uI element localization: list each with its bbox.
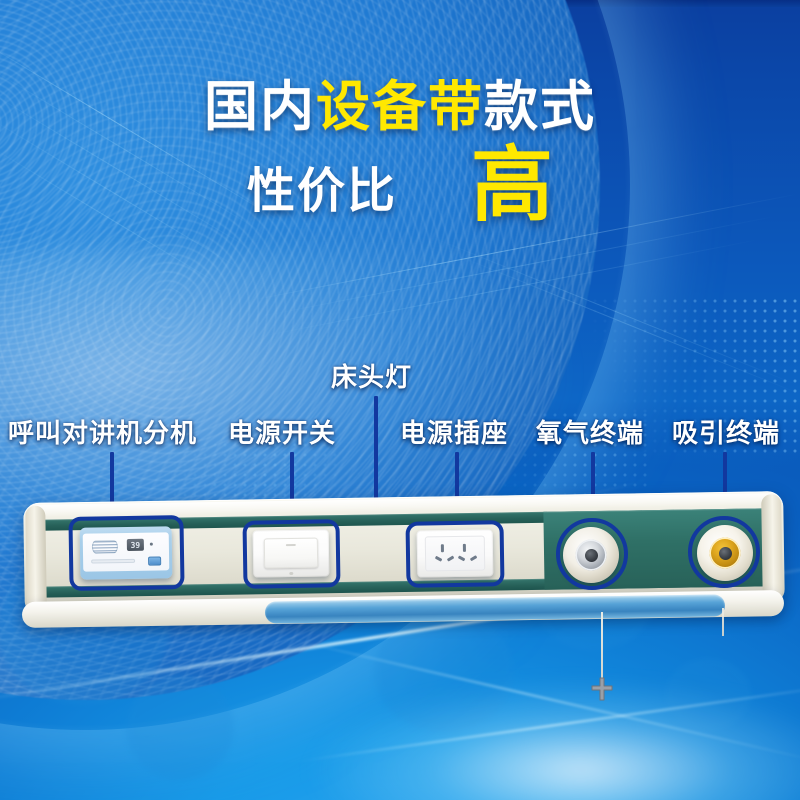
headline-line1-highlight: 设备带 (316, 75, 484, 138)
leader-line-oxygen-terminal (591, 452, 595, 530)
leader-line-suction-terminal (723, 452, 727, 528)
callout-label-nurse-call-intercom: 呼叫对讲机分机 (8, 413, 197, 450)
halftone-dots-left (150, 440, 340, 510)
headline-line1-suffix: 款式 (484, 75, 596, 138)
leader-line-nurse-call-intercom (110, 452, 114, 528)
callout-label-power-switch: 电源开关 (228, 413, 336, 450)
headline-line-2: 性价比 高 (0, 147, 800, 225)
callout-label-bedside-lamp: 床头灯 (331, 357, 412, 394)
leader-line-power-switch (290, 452, 294, 530)
callout-label-suction-terminal: 吸引终端 (672, 413, 780, 450)
headline-block: 国内设备带款式 性价比 高 (0, 78, 800, 225)
headline-line2-highlight: 高 (471, 147, 553, 225)
leader-line-power-outlet (455, 452, 459, 530)
headline-line2-text: 性价比 (247, 151, 397, 221)
headline-line1-prefix: 国内 (204, 75, 316, 138)
callout-label-oxygen-terminal: 氧气终端 (536, 413, 644, 450)
leader-line-bedside-lamp (374, 396, 378, 608)
headline-line-1: 国内设备带款式 (0, 78, 800, 135)
callout-label-power-outlet: 电源插座 (400, 413, 508, 450)
